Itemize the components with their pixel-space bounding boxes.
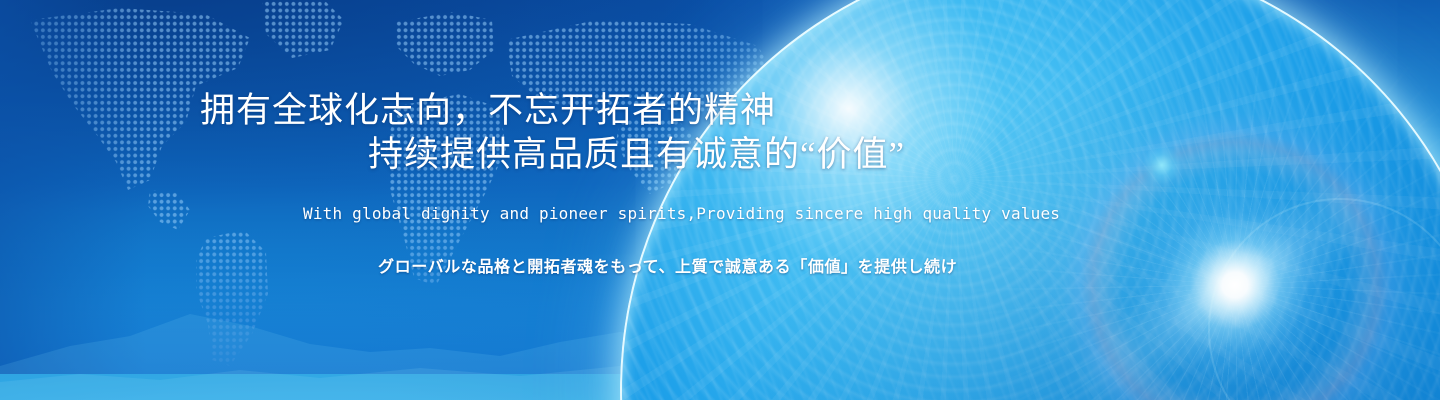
headline-line-2: 持续提供高品质且有诚意的“价值” (368, 137, 905, 172)
banner-copy: 拥有全球化志向，不忘开拓者的精神 持续提供高品质且有诚意的“价值” With g… (0, 0, 1440, 400)
headline-line-1: 拥有全球化志向，不忘开拓者的精神 (200, 93, 776, 128)
hero-banner: 拥有全球化志向，不忘开拓者的精神 持续提供高品质且有诚意的“价值” With g… (0, 0, 1440, 400)
subtitle-english: With global dignity and pioneer spirits,… (303, 206, 1060, 222)
subtitle-japanese: グローバルな品格と開拓者魂をもって、上質で誠意ある「価値」を提供し続け (378, 259, 957, 275)
